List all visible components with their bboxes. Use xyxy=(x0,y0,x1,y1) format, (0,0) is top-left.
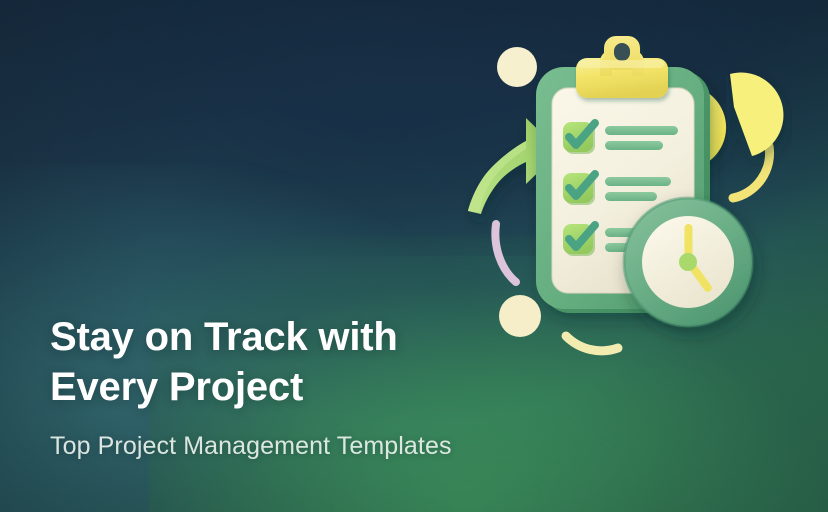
project-management-illustration xyxy=(452,28,792,368)
cream-circle-top-icon xyxy=(497,47,537,87)
yellow-arc-bottom-icon xyxy=(566,336,618,351)
copy-block: Stay on Track with Every Project Top Pro… xyxy=(50,312,480,462)
clock-hub xyxy=(679,253,697,271)
clipboard-clip-icon xyxy=(576,36,668,98)
page-subtitle: Top Project Management Templates xyxy=(50,430,480,462)
lavender-arc-icon xyxy=(495,224,516,282)
page-title: Stay on Track with Every Project xyxy=(50,312,480,412)
promo-banner: Stay on Track with Every Project Top Pro… xyxy=(0,0,828,512)
clock-icon xyxy=(624,198,752,326)
cream-circle-bottom-icon xyxy=(499,295,541,337)
